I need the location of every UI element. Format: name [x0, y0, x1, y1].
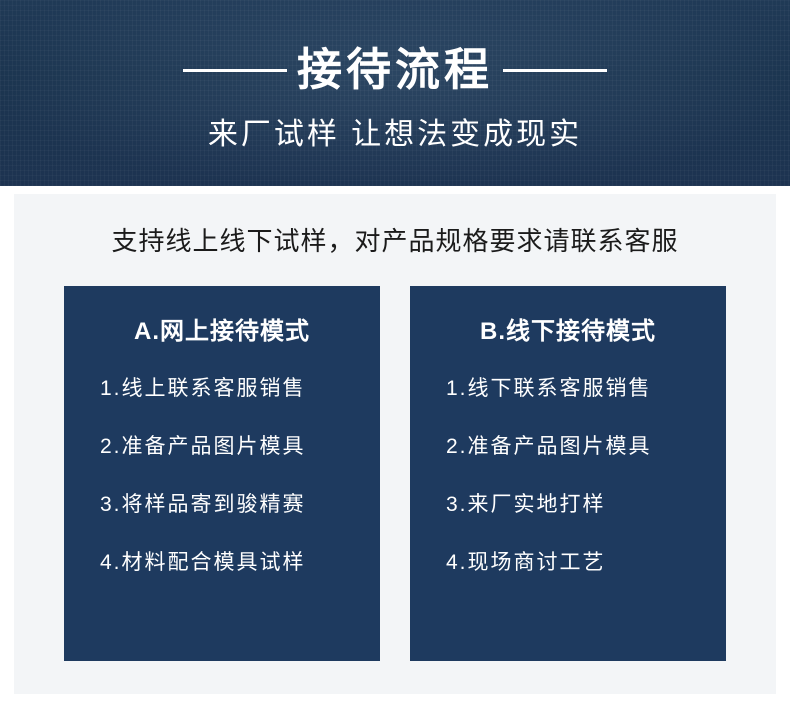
right-rule-decoration	[503, 69, 607, 72]
panel-heading: 支持线上线下试样，对产品规格要求请联系客服	[14, 194, 776, 258]
card-item: 4.现场商讨工艺	[432, 548, 704, 578]
card-offline-reception: B.线下接待模式 1.线下联系客服销售 2.准备产品图片模具 3.来厂实地打样 …	[410, 286, 726, 661]
banner-title-row: 接待流程	[0, 42, 790, 98]
card-item: 3.来厂实地打样	[432, 490, 704, 520]
card-item: 2.准备产品图片模具	[432, 432, 704, 462]
promo-page: 接待流程 来厂试样 让想法变成现实 支持线上线下试样，对产品规格要求请联系客服 …	[0, 0, 790, 718]
card-item: 1.线上联系客服销售	[86, 374, 358, 404]
left-rule-decoration	[183, 69, 287, 72]
card-item: 4.材料配合模具试样	[86, 548, 358, 578]
card-item: 2.准备产品图片模具	[86, 432, 358, 462]
banner-subtitle: 来厂试样 让想法变成现实	[0, 116, 790, 154]
content-panel: 支持线上线下试样，对产品规格要求请联系客服 A.网上接待模式 1.线上联系客服销…	[14, 194, 776, 694]
banner-content: 接待流程 来厂试样 让想法变成现实	[0, 0, 790, 154]
banner-title: 接待流程	[297, 42, 493, 98]
card-list: A.网上接待模式 1.线上联系客服销售 2.准备产品图片模具 3.将样品寄到骏精…	[14, 286, 776, 661]
card-title: A.网上接待模式	[86, 316, 358, 348]
bottom-spacer	[0, 704, 790, 718]
card-online-reception: A.网上接待模式 1.线上联系客服销售 2.准备产品图片模具 3.将样品寄到骏精…	[64, 286, 380, 661]
card-item: 1.线下联系客服销售	[432, 374, 704, 404]
card-title: B.线下接待模式	[432, 316, 704, 348]
card-item: 3.将样品寄到骏精赛	[86, 490, 358, 520]
header-banner: 接待流程 来厂试样 让想法变成现实	[0, 0, 790, 186]
